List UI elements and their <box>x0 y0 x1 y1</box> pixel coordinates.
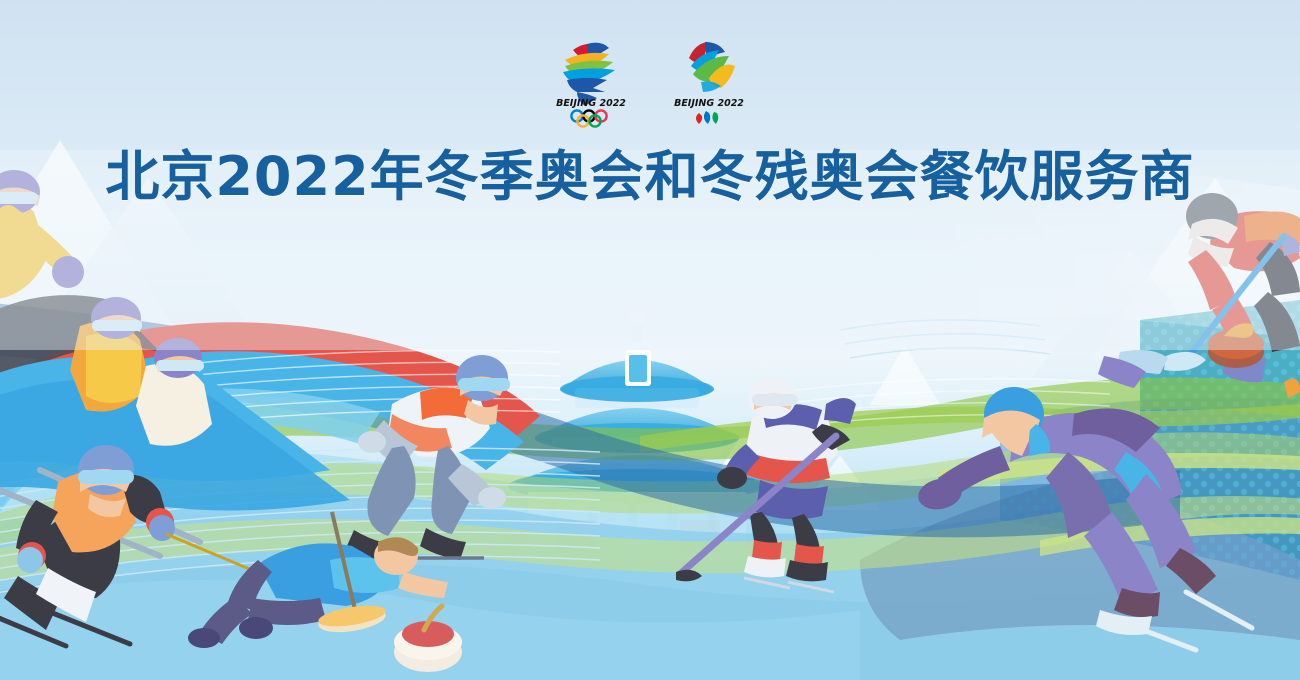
paralympic-wordmark: BEIJING 2022 <box>674 98 744 109</box>
olympic-rings-icon <box>571 110 606 126</box>
olympic-wordmark: BEIJING 2022 <box>556 98 626 109</box>
olympic-mark-icon <box>563 43 615 106</box>
emblem-row: BEIJING 2022 <box>0 34 1300 130</box>
paralympic-emblem: BEIJING 2022 <box>661 34 757 130</box>
page-title: 北京2022年冬季奥会和冬残奥会餐饮服务商 <box>0 146 1300 208</box>
beijing-2022-banner: BEIJING 2022 <box>0 0 1300 680</box>
agitos-icon <box>696 111 718 124</box>
olympic-emblem: BEIJING 2022 <box>543 34 639 130</box>
paralympic-mark-icon <box>689 42 735 92</box>
